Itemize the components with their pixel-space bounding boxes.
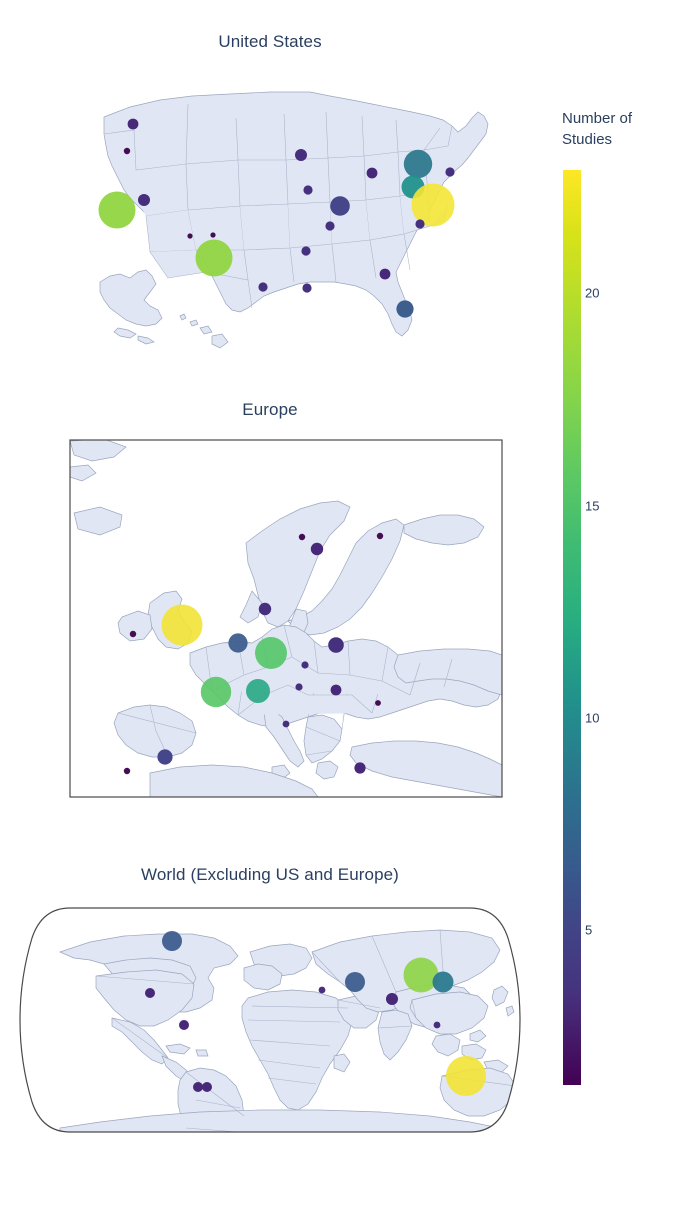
bubble-point: [128, 119, 139, 130]
bubble-point: [354, 762, 365, 773]
colorbar: Number of Studies 20 15 10 5: [545, 100, 676, 1100]
colorbar-tick-15: 15: [585, 499, 599, 514]
bubble-point: [404, 958, 439, 993]
bubble-point: [179, 1020, 189, 1030]
bubble-point: [295, 683, 302, 690]
bubble-point: [295, 149, 307, 161]
europe-land-shapes: [70, 439, 502, 797]
bubble-point: [210, 232, 215, 237]
colorbar-title: Number of Studies: [562, 108, 674, 150]
bubble-point: [303, 185, 312, 194]
bubble-point: [434, 1022, 441, 1029]
panel-united-states: United States: [0, 20, 540, 360]
bubble-point: [162, 931, 182, 951]
bubble-point: [138, 194, 150, 206]
bubble-point: [380, 269, 391, 280]
bubble-point: [396, 300, 413, 317]
map-united-states: [0, 20, 540, 360]
bubble-point: [145, 988, 155, 998]
panel-world: World (Excluding US and Europe): [0, 860, 540, 1180]
map-europe: [0, 395, 540, 815]
bubble-point: [325, 221, 334, 230]
bubble-point: [246, 679, 270, 703]
bubble-point: [193, 1082, 203, 1092]
panel-europe: Europe: [0, 395, 540, 815]
bubble-point: [162, 605, 203, 646]
bubble-point: [319, 987, 326, 994]
bubble-point: [375, 700, 381, 706]
bubble-point: [201, 677, 231, 707]
bubble-point: [445, 167, 454, 176]
bubble-point: [311, 543, 323, 555]
bubble-point: [301, 246, 310, 255]
bubble-point: [433, 972, 454, 993]
bubble-point: [130, 631, 136, 637]
bubble-point: [386, 993, 398, 1005]
colorbar-gradient: [563, 170, 581, 1085]
bubble-point: [301, 661, 308, 668]
bubble-point: [415, 219, 424, 228]
world-land-shapes: [60, 930, 540, 1180]
bubble-point: [299, 534, 305, 540]
bubble-point: [196, 240, 233, 277]
bubble-point: [283, 721, 290, 728]
bubble-point: [404, 150, 432, 178]
bubble-point: [446, 1056, 486, 1096]
bubble-point: [157, 749, 172, 764]
colorbar-tick-10: 10: [585, 711, 599, 726]
map-world: [0, 860, 540, 1180]
bubble-point: [302, 283, 311, 292]
bubble-point: [330, 196, 350, 216]
bubble-point: [228, 633, 247, 652]
colorbar-tick-5: 5: [585, 923, 592, 938]
bubble-point: [345, 972, 365, 992]
bubble-point: [124, 148, 130, 154]
bubble-point: [328, 637, 344, 653]
colorbar-title-line1: Number of: [562, 108, 674, 129]
bubble-point: [331, 685, 342, 696]
figure-root: United States: [0, 0, 676, 1232]
bubble-point: [124, 768, 130, 774]
bubble-point: [259, 603, 271, 615]
bubble-point: [99, 192, 136, 229]
bubble-point: [367, 168, 378, 179]
bubble-point: [258, 282, 267, 291]
bubble-point: [377, 533, 383, 539]
colorbar-tick-20: 20: [585, 286, 599, 301]
bubble-point: [187, 233, 192, 238]
colorbar-title-line2: Studies: [562, 129, 674, 150]
bubble-point: [255, 637, 287, 669]
bubble-point: [202, 1082, 212, 1092]
